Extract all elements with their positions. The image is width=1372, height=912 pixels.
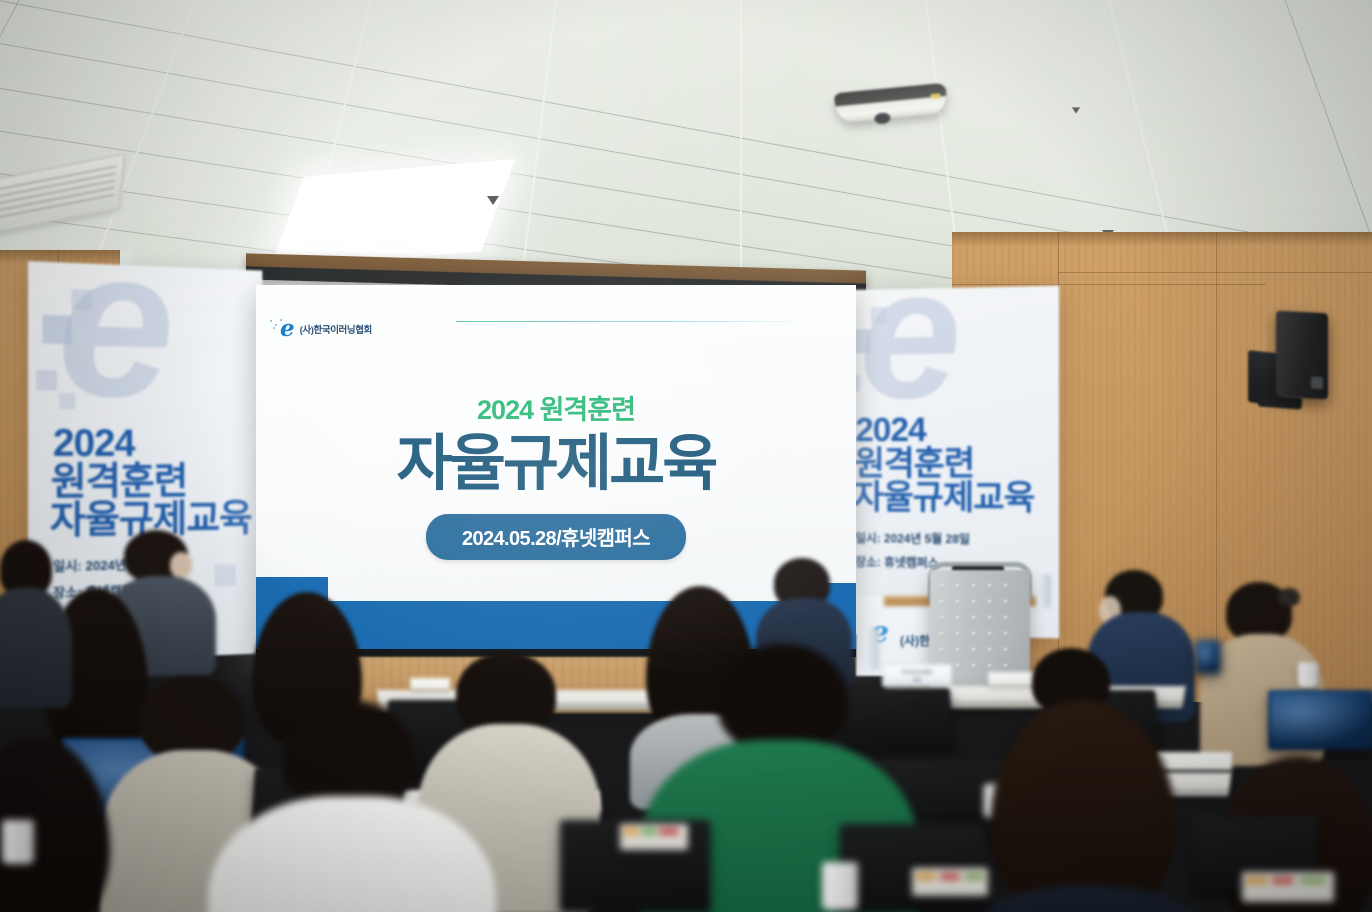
banner-right-date: 일시: 2024년 5월 28일 <box>855 529 970 547</box>
lower-panel-org: (사)한 <box>900 632 930 649</box>
wall-speaker-icon <box>1276 311 1328 400</box>
paper-stack <box>410 678 450 690</box>
banner-watermark-e-icon: e <box>57 261 174 408</box>
sprinkler-head-icon <box>1072 107 1080 113</box>
slide-kicker: 2024 원격훈련 <box>256 397 856 424</box>
slide-header-rule <box>456 321 806 322</box>
snack-box <box>912 868 988 896</box>
hair-clip-icon <box>1278 588 1300 606</box>
ceiling-light-panel <box>270 159 515 269</box>
laptop-screen <box>1268 690 1372 750</box>
ceiling-air-vent <box>0 154 125 237</box>
banner-right-line2: 자율규제교육 <box>853 480 1034 517</box>
podium-perforation-pattern <box>940 584 1020 682</box>
banner-left-year: 2024 <box>53 423 135 464</box>
slide-date-venue-badge: 2024.05.28/휴넷캠퍼스 <box>426 514 686 560</box>
paper-stack <box>1156 752 1232 770</box>
lecture-hall-photo: e 2024 원격훈련 자율규제교육 일시: 2024년 5월 28일 장소: … <box>0 0 1372 912</box>
ceiling-projector-icon <box>834 83 948 124</box>
water-bottle <box>866 628 879 670</box>
banner-right-line1: 원격훈련 <box>854 446 974 482</box>
snack-box <box>620 824 688 850</box>
laptop-screen <box>842 688 954 750</box>
slide-org-name: (사)한국이러닝협회 <box>300 322 372 336</box>
slide-org-logo: e (사)한국이러닝협회 <box>280 317 372 340</box>
banner-left-line1: 원격훈련 <box>51 462 187 503</box>
smartphone <box>1195 640 1221 674</box>
paper-cup <box>1298 662 1318 688</box>
slide-title: 자율규제교육 <box>256 432 856 494</box>
banner-right-year: 2024 <box>855 412 926 448</box>
water-bottle <box>1040 574 1051 608</box>
slide-main-block: 2024 원격훈련 자율규제교육 2024.05.28/휴넷캠퍼스 <box>256 397 856 560</box>
nameplate: 한국이러닝협회 회장 <box>882 664 952 688</box>
nameplate-line2: 회장 <box>883 678 951 686</box>
logo-sparkle-icon <box>270 319 286 329</box>
banner-right-place: 장소: 휴넷캠퍼스 <box>855 553 938 571</box>
paper-cup <box>2 820 34 864</box>
banner-watermark-e-icon: e <box>859 286 961 410</box>
sprinkler-head-icon <box>487 196 499 205</box>
nameplate-line1: 한국이러닝협회 <box>883 670 951 678</box>
projection-screen: e (사)한국이러닝협회 2024 원격훈련 자율규제교육 2024.05.28… <box>256 285 856 657</box>
paper-cup <box>822 862 858 910</box>
snack-box <box>1242 872 1334 902</box>
